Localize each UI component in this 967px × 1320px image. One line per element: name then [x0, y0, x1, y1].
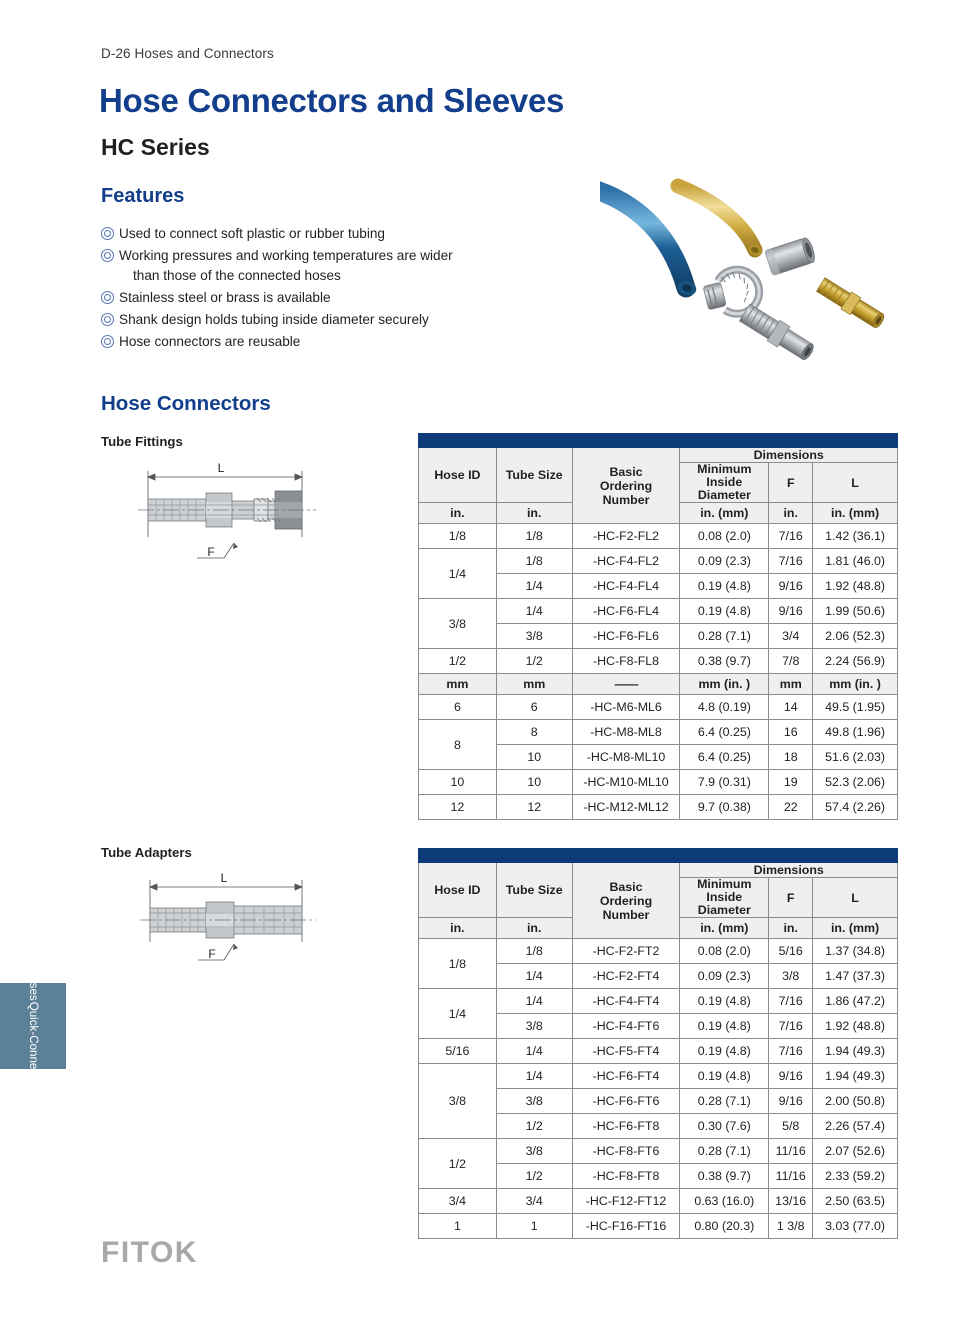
cell-minimum-inside-diameter: 0.63 (16.0) [680, 1189, 769, 1214]
cell-hose-id: 1/2 [419, 1139, 497, 1189]
cell-f: 18 [769, 745, 813, 770]
cell-f: 7/16 [769, 524, 813, 549]
cell-minimum-inside-diameter: 0.08 (2.0) [680, 939, 769, 964]
cell-tube-size: 1/4 [496, 599, 572, 624]
unit-l: in. (mm) [813, 918, 898, 939]
cell-f: 16 [769, 720, 813, 745]
cell-l: 1.37 (34.8) [813, 939, 898, 964]
page-subtitle: HC Series [101, 134, 210, 161]
cell-f: 13/16 [769, 1189, 813, 1214]
drawing-tube-fitting: L F [120, 455, 360, 575]
cell-l: 49.5 (1.95) [813, 695, 898, 720]
cell-f: 9/16 [769, 1064, 813, 1089]
cell-tube-size: 1/2 [496, 649, 572, 674]
col-header-dimensions: Dimensions [680, 863, 898, 878]
cell-tube-size: 3/8 [496, 1139, 572, 1164]
cell-tube-size: 1/4 [496, 1064, 572, 1089]
cell-tube-size: 1/8 [496, 549, 572, 574]
cell-f: 3/4 [769, 624, 813, 649]
cell-hose-id: 3/4 [419, 1189, 497, 1214]
feature-item-label: Stainless steel or brass is available [119, 288, 331, 308]
feature-item-label: Hose connectors are reusable [119, 332, 300, 352]
running-head: D-26 Hoses and Connectors [101, 46, 274, 61]
cell-f: 19 [769, 770, 813, 795]
feature-item-continuation: than those of the connected hoses [119, 266, 453, 286]
cell-basic-ordering-number: -HC-M6-ML6 [572, 695, 680, 720]
table-row: 11-HC-F16-FT160.80 (20.3)1 3/83.03 (77.0… [419, 1214, 898, 1239]
cell-minimum-inside-diameter: 0.19 (4.8) [680, 574, 769, 599]
dim-label-f: F [207, 545, 214, 559]
cell-basic-ordering-number: -HC-F6-FT6 [572, 1089, 680, 1114]
cell-hose-id: 12 [419, 795, 497, 820]
unit-minimum-inside-diameter: in. (mm) [680, 918, 769, 939]
cell-f: 22 [769, 795, 813, 820]
cell-minimum-inside-diameter: 0.19 (4.8) [680, 599, 769, 624]
table-tube-adapters: Hose IDTube SizeBasic Ordering NumberDim… [418, 848, 898, 1239]
col-header-basic-ordering-number: Basic Ordering Number [572, 863, 680, 939]
fitok-logo: FITOK [101, 1236, 198, 1270]
cell-basic-ordering-number: -HC-F8-FT8 [572, 1164, 680, 1189]
cell-minimum-inside-diameter: 6.4 (0.25) [680, 745, 769, 770]
cell-tube-size: 12 [496, 795, 572, 820]
table-row: 1/41/8-HC-F4-FL20.09 (2.3)7/161.81 (46.0… [419, 549, 898, 574]
unit-l-mm: mm (in. ) [813, 674, 898, 695]
table-row: 1212-HC-M12-ML129.7 (0.38)2257.4 (2.26) [419, 795, 898, 820]
cell-basic-ordering-number: -HC-F4-FT4 [572, 989, 680, 1014]
cell-minimum-inside-diameter: 9.7 (0.38) [680, 795, 769, 820]
dim-label-l: L [221, 871, 228, 885]
cell-f: 3/8 [769, 964, 813, 989]
cell-tube-size: 3/8 [496, 1014, 572, 1039]
feature-item-label: Shank design holds tubing inside diamete… [119, 310, 429, 330]
cell-basic-ordering-number: -HC-M10-ML10 [572, 770, 680, 795]
cell-hose-id: 1/4 [419, 549, 497, 599]
cell-f: 9/16 [769, 1089, 813, 1114]
cell-f: 7/8 [769, 649, 813, 674]
cell-f: 11/16 [769, 1164, 813, 1189]
cell-l: 1.92 (48.8) [813, 574, 898, 599]
feature-item: Stainless steel or brass is available [101, 288, 501, 308]
cell-tube-size: 1/4 [496, 1039, 572, 1064]
cell-tube-size: 6 [496, 695, 572, 720]
cell-tube-size: 8 [496, 720, 572, 745]
feature-item: Shank design holds tubing inside diamete… [101, 310, 501, 330]
cell-minimum-inside-diameter: 0.28 (7.1) [680, 624, 769, 649]
col-header-f: F [769, 878, 813, 918]
cell-hose-id: 1/2 [419, 649, 497, 674]
feature-item-label: Used to connect soft plastic or rubber t… [119, 224, 385, 244]
cell-basic-ordering-number: -HC-M8-ML10 [572, 745, 680, 770]
cell-minimum-inside-diameter: 0.38 (9.7) [680, 649, 769, 674]
cell-f: 7/16 [769, 1014, 813, 1039]
table-row: 1/81/8-HC-F2-FT20.08 (2.0)5/161.37 (34.8… [419, 939, 898, 964]
side-tab-line-1: Hoses [26, 968, 40, 1001]
cell-minimum-inside-diameter: 7.9 (0.31) [680, 770, 769, 795]
cell-minimum-inside-diameter: 6.4 (0.25) [680, 720, 769, 745]
cell-l: 57.4 (2.26) [813, 795, 898, 820]
side-tab-hoses-quick-connects[interactable]: Hoses Quick-Connects [0, 983, 66, 1069]
table-row: 1/41/4-HC-F4-FT40.19 (4.8)7/161.86 (47.2… [419, 989, 898, 1014]
feature-item: Used to connect soft plastic or rubber t… [101, 224, 501, 244]
cell-minimum-inside-diameter: 0.19 (4.8) [680, 1039, 769, 1064]
table-row: 1/81/8-HC-F2-FL20.08 (2.0)7/161.42 (36.1… [419, 524, 898, 549]
col-header-minimum-inside-diameter: Minimum Inside Diameter [680, 878, 769, 918]
cell-minimum-inside-diameter: 0.09 (2.3) [680, 549, 769, 574]
cell-l: 1.47 (37.3) [813, 964, 898, 989]
table-row: 1/23/8-HC-F8-FT60.28 (7.1)11/162.07 (52.… [419, 1139, 898, 1164]
cell-minimum-inside-diameter: 0.80 (20.3) [680, 1214, 769, 1239]
cell-l: 1.94 (49.3) [813, 1064, 898, 1089]
cell-basic-ordering-number: -HC-M8-ML8 [572, 720, 680, 745]
cell-basic-ordering-number: -HC-F8-FL8 [572, 649, 680, 674]
cell-basic-ordering-number: -HC-F2-FT2 [572, 939, 680, 964]
cell-tube-size: 1/8 [496, 524, 572, 549]
page-title: Hose Connectors and Sleeves [99, 82, 564, 120]
cell-minimum-inside-diameter: 0.28 (7.1) [680, 1139, 769, 1164]
cell-tube-size: 1/4 [496, 574, 572, 599]
cell-l: 2.00 (50.8) [813, 1089, 898, 1114]
col-header-minimum-inside-diameter: Minimum Inside Diameter [680, 463, 769, 503]
features-heading: Features [101, 185, 184, 208]
table-units-row-mm: mmmm——mm (in. )mmmm (in. ) [419, 674, 898, 695]
cell-hose-id: 10 [419, 770, 497, 795]
col-header-dimensions: Dimensions [680, 448, 898, 463]
cell-minimum-inside-diameter: 4.8 (0.19) [680, 695, 769, 720]
unit-hose-id: in. [419, 918, 497, 939]
cell-basic-ordering-number: -HC-F4-FT6 [572, 1014, 680, 1039]
table-row: 66-HC-M6-ML64.8 (0.19)1449.5 (1.95) [419, 695, 898, 720]
cell-l: 1.86 (47.2) [813, 989, 898, 1014]
cell-tube-size: 1/2 [496, 1114, 572, 1139]
cell-f: 7/16 [769, 1039, 813, 1064]
product-photo [600, 178, 940, 370]
unit-tube-size: in. [496, 503, 572, 524]
features-list: Used to connect soft plastic or rubber t… [101, 224, 501, 354]
cell-minimum-inside-diameter: 0.08 (2.0) [680, 524, 769, 549]
cell-f: 5/8 [769, 1114, 813, 1139]
bullet-icon [101, 227, 115, 241]
subsection-label-tube-adapters: Tube Adapters [101, 845, 192, 860]
unit-hose-id: in. [419, 503, 497, 524]
cell-l: 2.26 (57.4) [813, 1114, 898, 1139]
col-header-tube-size: Tube Size [496, 448, 572, 503]
unit-minimum-inside-diameter-mm: mm (in. ) [680, 674, 769, 695]
unit-minimum-inside-diameter: in. (mm) [680, 503, 769, 524]
col-header-tube-size: Tube Size [496, 863, 572, 918]
cell-minimum-inside-diameter: 0.28 (7.1) [680, 1089, 769, 1114]
cell-hose-id: 3/8 [419, 1064, 497, 1139]
cell-hose-id: 1/8 [419, 524, 497, 549]
cell-l: 1.42 (36.1) [813, 524, 898, 549]
cell-hose-id: 8 [419, 720, 497, 770]
cell-basic-ordering-number: -HC-F6-FT4 [572, 1064, 680, 1089]
unit-l: in. (mm) [813, 503, 898, 524]
table-header-bar [419, 434, 898, 448]
unit-tube-size-mm: mm [496, 674, 572, 695]
dim-label-l: L [218, 461, 225, 475]
cell-basic-ordering-number: -HC-F2-FT4 [572, 964, 680, 989]
cell-basic-ordering-number: -HC-F12-FT12 [572, 1189, 680, 1214]
section-heading-hose-connectors: Hose Connectors [101, 392, 271, 416]
cell-f: 1 3/8 [769, 1214, 813, 1239]
cell-l: 2.24 (56.9) [813, 649, 898, 674]
side-tab-line-2: Quick-Connects [26, 1002, 40, 1084]
cell-l: 2.50 (63.5) [813, 1189, 898, 1214]
cell-hose-id: 1 [419, 1214, 497, 1239]
cell-tube-size: 1/8 [496, 939, 572, 964]
cell-f: 11/16 [769, 1139, 813, 1164]
feature-item: Hose connectors are reusable [101, 332, 501, 352]
col-header-hose-id: Hose ID [419, 863, 497, 918]
cell-basic-ordering-number: -HC-F4-FL4 [572, 574, 680, 599]
table-row: 3/43/4-HC-F12-FT120.63 (16.0)13/162.50 (… [419, 1189, 898, 1214]
feature-item-label: Working pressures and working temperatur… [119, 246, 453, 286]
table-row: 1010-HC-M10-ML107.9 (0.31)1952.3 (2.06) [419, 770, 898, 795]
table-row: 5/161/4-HC-F5-FT40.19 (4.8)7/161.94 (49.… [419, 1039, 898, 1064]
cell-tube-size: 1/4 [496, 964, 572, 989]
cell-basic-ordering-number: -HC-F5-FT4 [572, 1039, 680, 1064]
unit-tube-size: in. [496, 918, 572, 939]
table-header-row: Hose IDTube SizeBasic Ordering NumberDim… [419, 863, 898, 878]
col-header-l: L [813, 878, 898, 918]
cell-hose-id: 1/8 [419, 939, 497, 989]
cell-basic-ordering-number: -HC-F16-FT16 [572, 1214, 680, 1239]
cell-tube-size: 10 [496, 770, 572, 795]
tube-fitting-diagram: L F [120, 455, 360, 570]
cell-hose-id: 6 [419, 695, 497, 720]
table-row: 3/81/4-HC-F6-FL40.19 (4.8)9/161.99 (50.6… [419, 599, 898, 624]
product-photo-illustration [600, 178, 940, 370]
unit-f: in. [769, 918, 813, 939]
dim-label-f: F [208, 947, 215, 961]
cell-tube-size: 3/8 [496, 1089, 572, 1114]
col-header-hose-id: Hose ID [419, 448, 497, 503]
cell-l: 2.07 (52.6) [813, 1139, 898, 1164]
table-header-row: Hose IDTube SizeBasic Ordering NumberDim… [419, 448, 898, 463]
cell-tube-size: 3/4 [496, 1189, 572, 1214]
cell-tube-size: 1/2 [496, 1164, 572, 1189]
cell-l: 51.6 (2.03) [813, 745, 898, 770]
unit-f: in. [769, 503, 813, 524]
table-header-bar-cell [419, 849, 898, 863]
cell-f: 14 [769, 695, 813, 720]
tube-adapter-diagram: L F [120, 868, 360, 978]
cell-basic-ordering-number: -HC-F6-FL4 [572, 599, 680, 624]
bullet-icon [101, 249, 115, 263]
unit-hose-id-mm: mm [419, 674, 497, 695]
cell-minimum-inside-diameter: 0.19 (4.8) [680, 1064, 769, 1089]
col-header-f: F [769, 463, 813, 503]
cell-minimum-inside-diameter: 0.38 (9.7) [680, 1164, 769, 1189]
table-tube-fittings: Hose IDTube SizeBasic Ordering NumberDim… [418, 433, 898, 820]
unit-basic-ordering-number-mm: —— [572, 674, 680, 695]
cell-tube-size: 3/8 [496, 624, 572, 649]
cell-minimum-inside-diameter: 0.30 (7.6) [680, 1114, 769, 1139]
table-header-bar [419, 849, 898, 863]
cell-f: 5/16 [769, 939, 813, 964]
cell-basic-ordering-number: -HC-F8-FT6 [572, 1139, 680, 1164]
cell-hose-id: 3/8 [419, 599, 497, 649]
cell-l: 2.06 (52.3) [813, 624, 898, 649]
cell-basic-ordering-number: -HC-F6-FT8 [572, 1114, 680, 1139]
col-header-l: L [813, 463, 898, 503]
cell-basic-ordering-number: -HC-F4-FL2 [572, 549, 680, 574]
cell-l: 1.81 (46.0) [813, 549, 898, 574]
bullet-icon [101, 335, 115, 349]
cell-minimum-inside-diameter: 0.19 (4.8) [680, 989, 769, 1014]
bullet-icon [101, 313, 115, 327]
cell-l: 3.03 (77.0) [813, 1214, 898, 1239]
cell-f: 7/16 [769, 989, 813, 1014]
col-header-basic-ordering-number: Basic Ordering Number [572, 448, 680, 524]
cell-l: 2.33 (59.2) [813, 1164, 898, 1189]
cell-f: 9/16 [769, 574, 813, 599]
cell-minimum-inside-diameter: 0.09 (2.3) [680, 964, 769, 989]
cell-hose-id: 1/4 [419, 989, 497, 1039]
subsection-label-tube-fittings: Tube Fittings [101, 434, 183, 449]
cell-l: 49.8 (1.96) [813, 720, 898, 745]
cell-f: 9/16 [769, 599, 813, 624]
table-header-bar-cell [419, 434, 898, 448]
drawing-tube-adapter: L F [120, 868, 360, 983]
unit-f-mm: mm [769, 674, 813, 695]
cell-l: 1.99 (50.6) [813, 599, 898, 624]
table-row: 3/81/4-HC-F6-FT40.19 (4.8)9/161.94 (49.3… [419, 1064, 898, 1089]
cell-basic-ordering-number: -HC-F2-FL2 [572, 524, 680, 549]
cell-tube-size: 1/4 [496, 989, 572, 1014]
cell-hose-id: 5/16 [419, 1039, 497, 1064]
cell-basic-ordering-number: -HC-M12-ML12 [572, 795, 680, 820]
table-row: 88-HC-M8-ML86.4 (0.25)1649.8 (1.96) [419, 720, 898, 745]
cell-tube-size: 10 [496, 745, 572, 770]
table-row: 1/21/2-HC-F8-FL80.38 (9.7)7/82.24 (56.9) [419, 649, 898, 674]
cell-tube-size: 1 [496, 1214, 572, 1239]
cell-f: 7/16 [769, 549, 813, 574]
feature-item: Working pressures and working temperatur… [101, 246, 501, 286]
cell-l: 1.92 (48.8) [813, 1014, 898, 1039]
bullet-icon [101, 291, 115, 305]
cell-minimum-inside-diameter: 0.19 (4.8) [680, 1014, 769, 1039]
cell-l: 52.3 (2.06) [813, 770, 898, 795]
cell-basic-ordering-number: -HC-F6-FL6 [572, 624, 680, 649]
cell-l: 1.94 (49.3) [813, 1039, 898, 1064]
